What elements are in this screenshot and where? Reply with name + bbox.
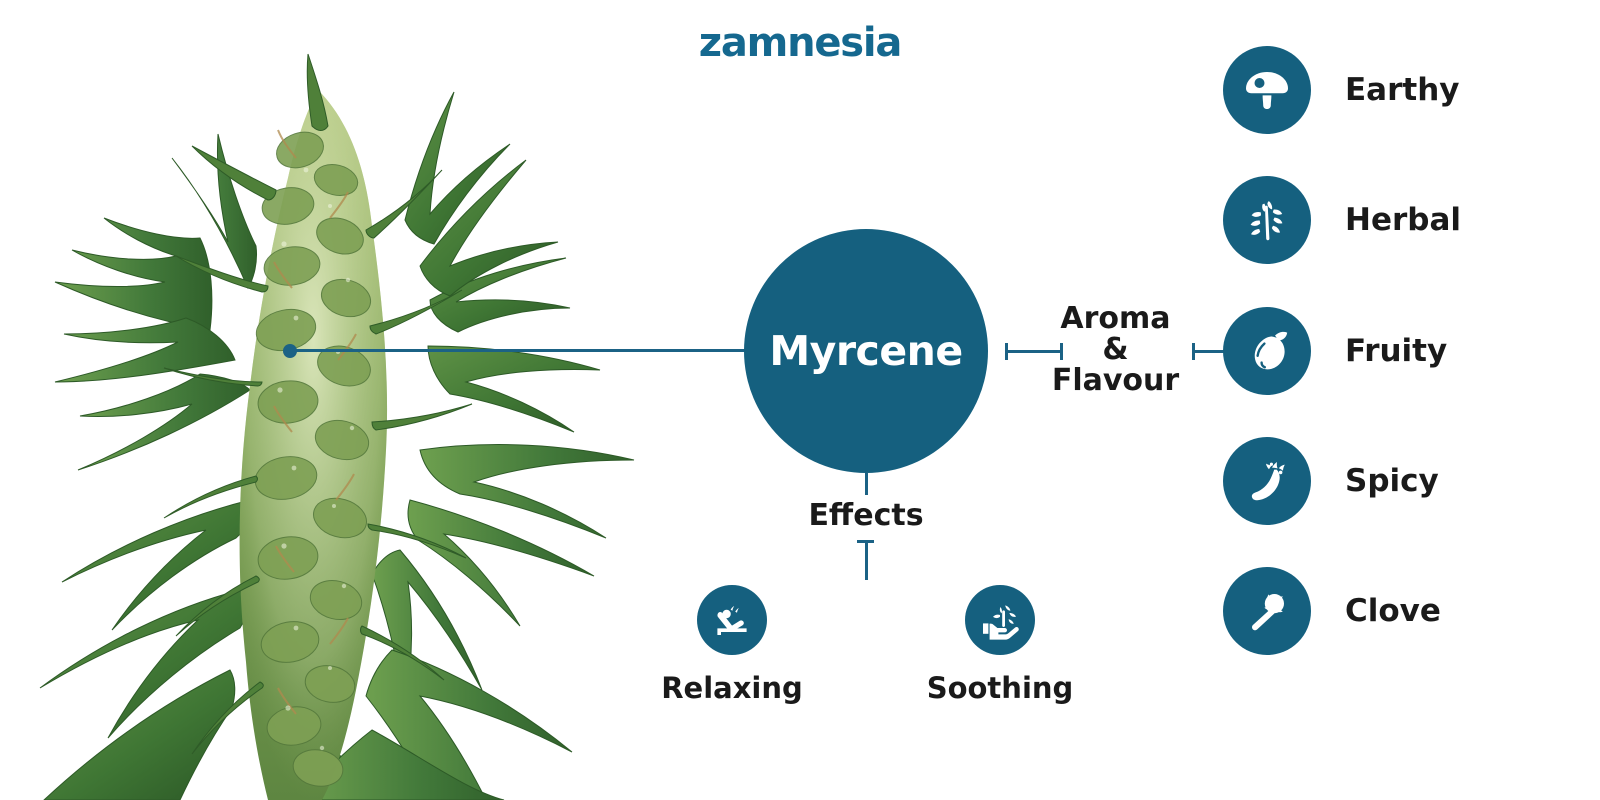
aroma-item-label: Earthy xyxy=(1345,72,1459,108)
central-node-label: Myrcene xyxy=(769,327,962,375)
effect-item-relaxing[interactable]: Relaxing xyxy=(612,585,852,705)
clove-bud-icon xyxy=(1223,567,1311,655)
aroma-item-clove[interactable]: Clove xyxy=(1223,567,1441,655)
effect-item-soothing[interactable]: Soothing xyxy=(880,585,1120,705)
aroma-item-label: Herbal xyxy=(1345,202,1461,238)
aroma-label-line-1: Aroma xyxy=(1038,303,1193,334)
aroma-item-label: Spicy xyxy=(1345,463,1439,499)
branch-label-aroma-flavour: Aroma & Flavour xyxy=(1038,303,1193,396)
chili-pepper-icon xyxy=(1223,437,1311,525)
mushroom-icon xyxy=(1223,46,1311,134)
branch-label-effects: Effects xyxy=(766,498,966,533)
aroma-connector-tick-a xyxy=(1005,343,1008,360)
person-reclining-icon xyxy=(697,585,767,655)
effect-item-label: Relaxing xyxy=(612,671,852,705)
aroma-item-spicy[interactable]: Spicy xyxy=(1223,437,1439,525)
infographic-canvas: zamnesia xyxy=(0,0,1600,800)
plant-connector-line xyxy=(294,349,746,352)
herb-sprig-icon xyxy=(1223,176,1311,264)
central-node-myrcene[interactable]: Myrcene xyxy=(744,229,988,473)
mango-icon xyxy=(1223,307,1311,395)
effect-item-label: Soothing xyxy=(880,671,1120,705)
aroma-item-label: Clove xyxy=(1345,593,1441,629)
aroma-item-label: Fruity xyxy=(1345,333,1447,369)
aroma-label-line-3: Flavour xyxy=(1038,365,1193,396)
aroma-item-earthy[interactable]: Earthy xyxy=(1223,46,1459,134)
hand-holding-plant-icon xyxy=(965,585,1035,655)
aroma-item-fruity[interactable]: Fruity xyxy=(1223,307,1447,395)
effects-connector-line-bottom xyxy=(865,540,868,580)
aroma-label-line-2: & xyxy=(1038,334,1193,365)
aroma-item-herbal[interactable]: Herbal xyxy=(1223,176,1461,264)
effects-connector-line-top xyxy=(865,473,868,495)
cannabis-plant-photo xyxy=(0,30,660,800)
